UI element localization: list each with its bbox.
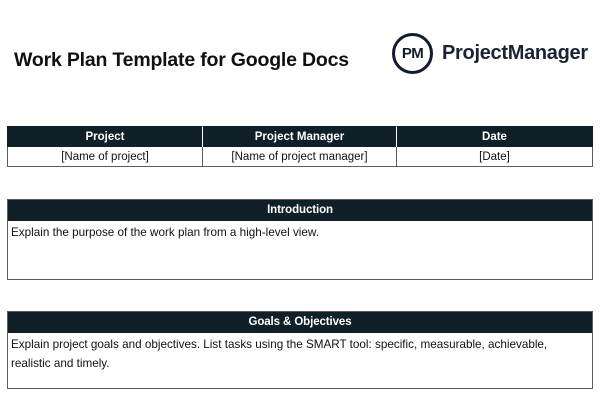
section-heading-goals-objectives: Goals & Objectives [8, 312, 592, 333]
goals-objectives-section: Goals & Objectives Explain project goals… [7, 311, 593, 389]
projectmanager-circle-icon: PM [392, 33, 433, 74]
page-title: Work Plan Template for Google Docs [14, 49, 349, 72]
section-body-goals-objectives[interactable]: Explain project goals and objectives. Li… [8, 333, 592, 388]
cell-date[interactable]: [Date] [396, 147, 593, 167]
table-header-row: Project Project Manager Date [7, 126, 593, 147]
introduction-section: Introduction Explain the purpose of the … [7, 199, 593, 280]
brand-logo: PM ProjectManager [392, 32, 588, 74]
brand-name: ProjectManager [442, 42, 588, 65]
column-header-project: Project [7, 126, 202, 147]
cell-project-name[interactable]: [Name of project] [7, 147, 202, 167]
table-row: [Name of project] [Name of project manag… [7, 147, 593, 167]
column-header-project-manager: Project Manager [202, 126, 396, 147]
cell-project-manager-name[interactable]: [Name of project manager] [202, 147, 396, 167]
document-header: Work Plan Template for Google Docs PM Pr… [0, 0, 600, 118]
column-header-date: Date [396, 126, 593, 147]
project-info-table: Project Project Manager Date [Name of pr… [7, 126, 593, 167]
section-body-introduction[interactable]: Explain the purpose of the work plan fro… [8, 221, 592, 279]
section-heading-introduction: Introduction [8, 200, 592, 221]
brand-monogram: PM [402, 46, 423, 61]
